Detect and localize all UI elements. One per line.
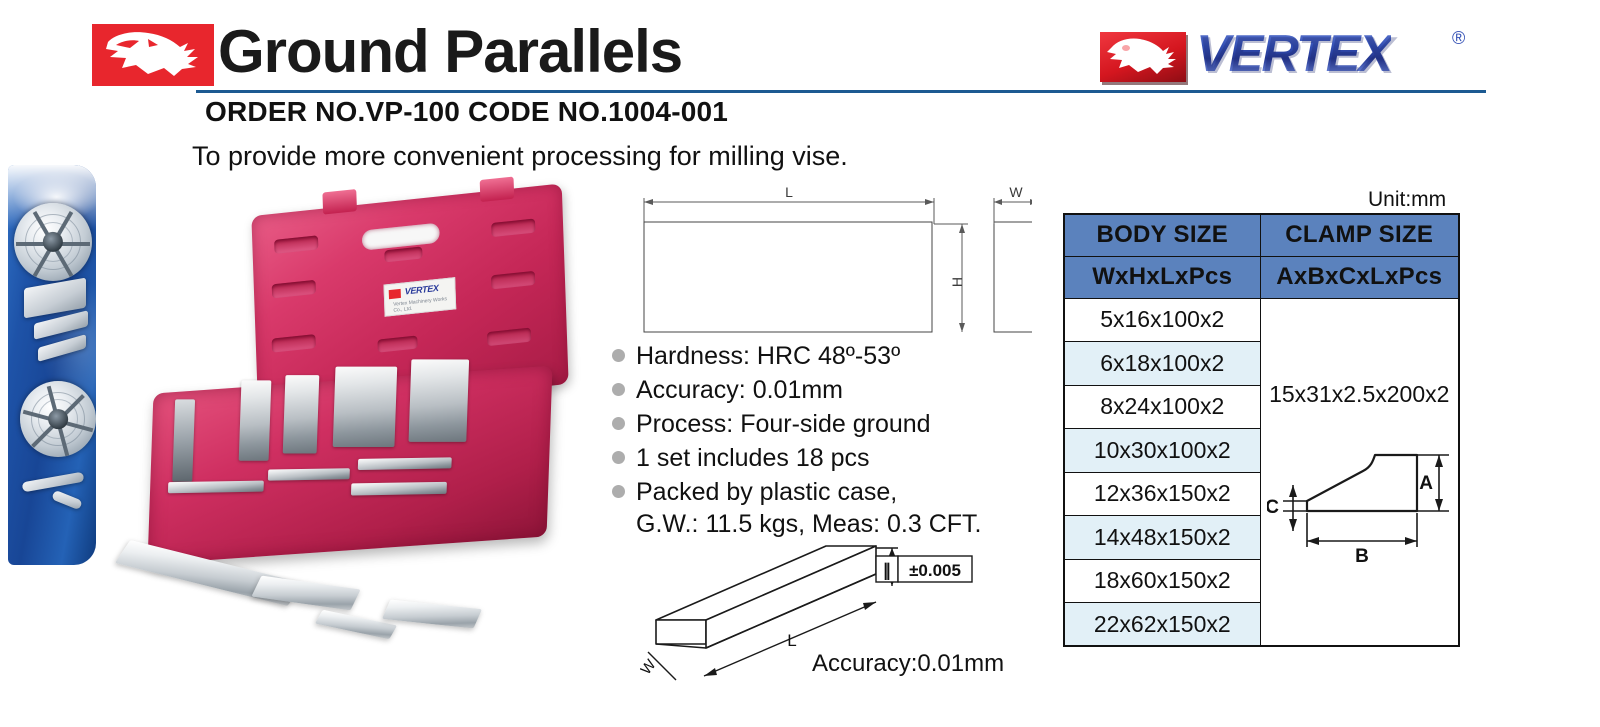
body-size-cell: 8x24x100x2 (1064, 385, 1260, 429)
vertex-wordmark: VERTEX (1196, 24, 1391, 84)
list-item: Accuracy: 0.01mm (612, 374, 1032, 406)
eagle-logo-badge (92, 24, 214, 86)
body-size-cell: 22x62x150x2 (1064, 603, 1260, 647)
page-title: Ground Parallels (218, 22, 682, 82)
case-lid-slot (377, 335, 417, 352)
tolerance-value-label: ±0.005 (909, 561, 961, 580)
case-brand-label: VERTEX Vertex Machinery Works Co., Ltd. (384, 277, 457, 317)
order-code-line: ORDER NO.VP-100 CODE NO.1004-001 (205, 96, 728, 128)
bullet-icon (612, 451, 625, 464)
spec-text: Accuracy: 0.01mm (636, 374, 843, 406)
bullet-icon (612, 485, 625, 498)
specification-list: Hardness: HRC 48º-53º Accuracy: 0.01mm P… (612, 340, 1032, 542)
side-view-rect (994, 222, 1032, 332)
case-lid-slot (491, 271, 535, 290)
rotary-table-disc-upper (14, 203, 92, 281)
case-lid-slot (384, 246, 422, 262)
list-item: Packed by plastic case, G.W.: 11.5 kgs, … (612, 476, 1032, 540)
orthographic-drawing: L H W (612, 184, 1032, 334)
specification-table: BODY SIZE CLAMP SIZE WxHxLxPcs AxBxCxLxP… (1063, 213, 1460, 647)
title-divider-rule (196, 90, 1486, 93)
unit-label: Unit:mm (1368, 188, 1446, 212)
list-item: 1 set includes 18 pcs (612, 442, 1032, 474)
case-lid-slot (491, 218, 535, 237)
case-lid-slot (272, 280, 316, 299)
catalog-page: Ground Parallels ORDER NO.VP-100 CODE NO… (0, 0, 1600, 727)
case-handle (362, 223, 440, 251)
body-size-cell: 10x30x100x2 (1064, 429, 1260, 473)
disc-hub (48, 409, 68, 429)
clamp-c-label: C (1267, 497, 1279, 518)
registered-trademark-icon: ® (1452, 28, 1465, 49)
body-size-cell: 18x60x150x2 (1064, 559, 1260, 603)
clamp-profile-drawing: A B C (1267, 435, 1455, 575)
bullet-icon (612, 417, 625, 430)
iso-end-face (656, 620, 706, 644)
body-size-cell: 5x16x100x2 (1064, 298, 1260, 342)
page-subtitle: To provide more convenient processing fo… (192, 141, 848, 172)
loose-parallel-bar-right (382, 600, 482, 629)
column-subheader-body-size: WxHxLxPcs (1064, 256, 1260, 298)
spec-text: Hardness: HRC 48º-53º (636, 340, 900, 372)
column-header-body-size: BODY SIZE (1064, 214, 1260, 256)
case-latch-tab (480, 177, 515, 203)
clamp-b-label: B (1355, 546, 1369, 567)
case-lid-slot (272, 334, 316, 353)
label-eagle-icon (389, 289, 401, 299)
bullet-icon (612, 383, 625, 396)
loose-parallel-bar-medium (251, 576, 360, 611)
parallel-bar (409, 359, 470, 441)
eagle-head-icon (1100, 32, 1186, 82)
parallel-bar (283, 375, 320, 453)
machine-clamp-part (38, 334, 86, 362)
body-size-cell: 14x48x150x2 (1064, 516, 1260, 560)
case-lid-slot (487, 328, 531, 347)
label-brand-text: VERTEX (405, 283, 439, 297)
spec-text: Packed by plastic case, (636, 476, 981, 508)
body-size-cell: 6x18x100x2 (1064, 342, 1260, 386)
table-header-row: BODY SIZE CLAMP SIZE (1064, 214, 1459, 256)
clamp-size-cell: 15x31x2.5x200x2 (1260, 298, 1459, 646)
list-item: Hardness: HRC 48º-53º (612, 340, 1032, 372)
parallel-bar (172, 399, 195, 481)
case-lid-slot (274, 235, 318, 254)
parallel-bar (168, 481, 264, 494)
bullet-icon (612, 349, 625, 362)
table-row: 5x16x100x2 15x31x2.5x200x2 (1064, 298, 1459, 342)
clamp-size-value: 15x31x2.5x200x2 (1261, 381, 1459, 408)
parallel-bar (333, 367, 398, 447)
parallel-bar (358, 457, 452, 470)
product-photo: VERTEX Vertex Machinery Works Co., Ltd. (112, 182, 592, 682)
rotary-table-disc-lower (20, 381, 96, 457)
accuracy-note: Accuracy:0.01mm (812, 650, 1004, 677)
body-size-cell: 12x36x150x2 (1064, 472, 1260, 516)
vertex-brand-logo: VERTEX ® (1100, 26, 1490, 88)
parallelism-symbol-icon: ∥ (883, 561, 892, 580)
parallel-bar (351, 482, 447, 496)
parallel-bar (239, 380, 272, 460)
parallel-bar (268, 468, 350, 480)
decorative-side-strip (8, 165, 96, 565)
case-latch-tab (322, 189, 357, 215)
machine-crank (51, 490, 83, 511)
list-item: Process: Four-side ground (612, 408, 1032, 440)
spec-text: Process: Four-side ground (636, 408, 931, 440)
case-base-tray (148, 366, 553, 565)
column-header-clamp-size: CLAMP SIZE (1260, 214, 1459, 256)
clamp-a-label: A (1419, 473, 1433, 494)
ortho-width-label: W (1009, 184, 1023, 200)
iso-width-label: W (640, 656, 660, 678)
label-sub-text: Vertex Machinery Works Co., Ltd. (393, 295, 455, 314)
iso-length-label: L (787, 631, 796, 650)
front-view-rect (644, 222, 932, 332)
machine-handle (22, 472, 85, 493)
ortho-length-label: L (785, 184, 793, 200)
vertex-eagle-badge (1100, 32, 1186, 82)
ortho-height-label: H (949, 277, 965, 287)
spec-text: 1 set includes 18 pcs (636, 442, 869, 474)
eagle-head-icon (92, 24, 214, 86)
table-subheader-row: WxHxLxPcs AxBxCxLxPcs (1064, 256, 1459, 298)
column-subheader-clamp-size: AxBxCxLxPcs (1260, 256, 1459, 298)
isometric-drawing: ∥ ±0.005 L W Accuracy:0.01mm (640, 534, 1010, 684)
clamp-profile-outline (1307, 455, 1417, 511)
